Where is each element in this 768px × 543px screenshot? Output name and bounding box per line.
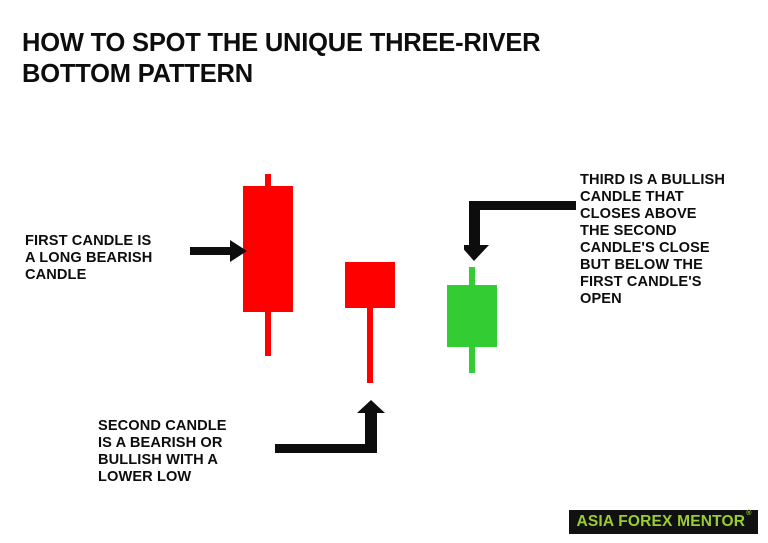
- first-candle-body: [243, 186, 293, 312]
- second-candle-lower-wick: [367, 307, 373, 383]
- third-candle-upper-wick: [469, 267, 475, 286]
- third-candle-annotation: THIRD IS A BULLISH CANDLE THAT CLOSES AB…: [580, 172, 766, 309]
- second-candle-body: [345, 262, 395, 308]
- registered-trademark-icon: ®: [746, 510, 751, 517]
- arrow-down-elbow-icon: [464, 200, 576, 262]
- infographic-canvas: HOW TO SPOT THE UNIQUE THREE-RIVER BOTTO…: [0, 0, 768, 543]
- third-candle-body: [447, 285, 497, 347]
- page-title: HOW TO SPOT THE UNIQUE THREE-RIVER BOTTO…: [22, 28, 602, 90]
- second-candle-annotation: SECOND CANDLE IS A BEARISH OR BULLISH WI…: [98, 418, 273, 486]
- brand-logo-name: ASIA FOREX MENTOR: [576, 513, 745, 530]
- brand-logo-text: ASIA FOREX MENTOR®: [576, 513, 750, 531]
- arrow-up-elbow-icon: [272, 399, 387, 454]
- first-candle: [243, 174, 293, 356]
- third-candle: [447, 267, 497, 373]
- first-candle-annotation: FIRST CANDLE IS A LONG BEARISH CANDLE: [25, 233, 193, 284]
- third-candle-lower-wick: [469, 346, 475, 373]
- second-candle: [345, 262, 395, 383]
- first-candle-lower-wick: [265, 311, 271, 356]
- arrow-right-icon: [190, 238, 248, 264]
- brand-logo: ASIA FOREX MENTOR®: [569, 510, 758, 534]
